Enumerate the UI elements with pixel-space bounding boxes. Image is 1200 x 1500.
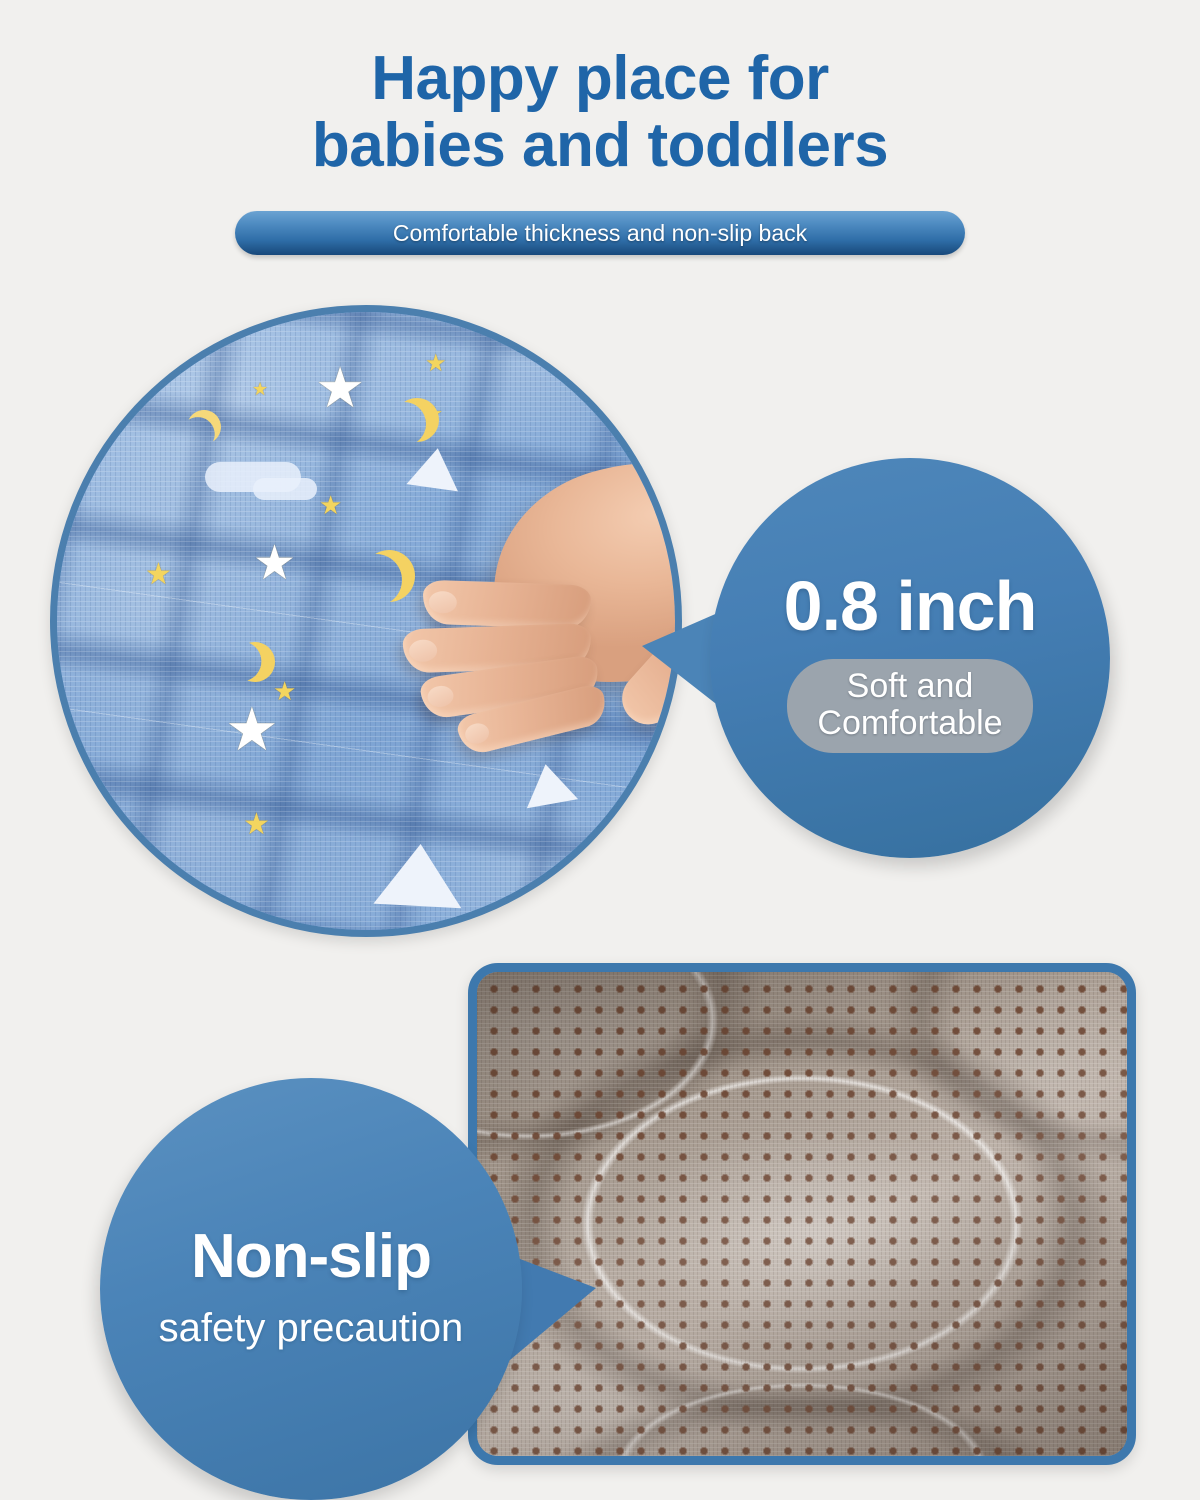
star-icon: ★ xyxy=(425,352,447,376)
nonslip-callout-bubble: Non-slip safety precaution xyxy=(100,1078,522,1500)
soft-comfortable-pill: Soft and Comfortable xyxy=(787,659,1032,752)
star-icon: ★ xyxy=(252,380,268,398)
subtitle-banner-label: Comfortable thickness and non-slip back xyxy=(393,220,807,247)
page-title-line-1: Happy place for xyxy=(0,46,1200,113)
soft-comfortable-line-1: Soft and xyxy=(817,668,1002,704)
index-finger xyxy=(422,580,591,630)
star-icon: ★ xyxy=(273,678,296,704)
thickness-value-label: 0.8 inch xyxy=(784,571,1037,641)
star-icon: ★ xyxy=(253,540,296,588)
soft-comfortable-line-2: Comfortable xyxy=(817,705,1002,741)
callout-content: 0.8 inch Soft and Comfortable xyxy=(710,458,1110,858)
thickness-callout-bubble: 0.8 inch Soft and Comfortable xyxy=(710,458,1110,858)
subtitle-banner: Comfortable thickness and non-slip back xyxy=(235,211,965,255)
page-title: Happy place for babies and toddlers xyxy=(0,46,1200,180)
fingernail xyxy=(428,591,457,614)
nonslip-back-photo-rect xyxy=(468,963,1136,1465)
callout-content: Non-slip safety precaution xyxy=(100,1078,522,1500)
photo-circle-border: ★ ★ ★ ★ ★ ★ ★ ★ ★ ★ ★ ★ xyxy=(50,305,682,937)
page-title-line-2: babies and toddlers xyxy=(0,113,1200,180)
crescent-moon-icon xyxy=(181,404,227,450)
nonslip-title-label: Non-slip xyxy=(191,1226,431,1288)
star-icon: ★ xyxy=(243,810,270,840)
photo-rect-border xyxy=(468,963,1136,1465)
night-cap-icon xyxy=(406,445,463,492)
cloud-icon xyxy=(253,478,317,500)
crescent-moon-icon xyxy=(395,398,439,442)
fingernail xyxy=(463,721,491,746)
fingernail xyxy=(409,639,438,662)
nonslip-subtitle-label: safety precaution xyxy=(159,1308,464,1348)
quilted-mattress-photo-circle: ★ ★ ★ ★ ★ ★ ★ ★ ★ ★ ★ ★ xyxy=(50,305,682,937)
fingernail xyxy=(426,684,455,708)
star-icon: ★ xyxy=(145,560,172,590)
star-icon: ★ xyxy=(315,360,365,416)
photo-circle-image: ★ ★ ★ ★ ★ ★ ★ ★ ★ ★ ★ ★ xyxy=(57,312,675,930)
infographic-canvas: Happy place for babies and toddlers Comf… xyxy=(0,0,1200,1500)
star-icon: ★ xyxy=(225,700,279,760)
nonslip-photo-shading xyxy=(477,972,1127,1456)
star-icon: ★ xyxy=(319,492,342,518)
